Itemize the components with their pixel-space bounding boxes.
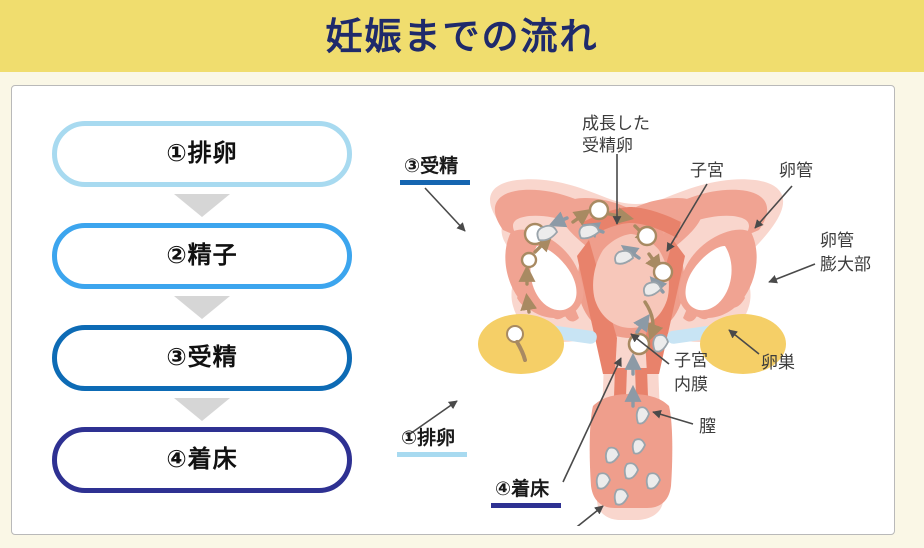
arrow-down-icon xyxy=(174,398,230,421)
flow-arrow-3 xyxy=(52,391,352,427)
anno-ovulation-label: ①排卵 xyxy=(401,426,455,449)
vagina-shape xyxy=(590,394,673,508)
label-grown-fertilized-egg-line1: 成長した xyxy=(582,114,650,133)
label-vagina-text: 膣 xyxy=(699,417,716,436)
flow-step-list: ①排卵 ②精子 ③受精 ④着床 xyxy=(52,121,352,493)
label-vagina: 膣 xyxy=(699,417,716,436)
implanted-embryo xyxy=(629,334,649,354)
arrow-down-icon xyxy=(174,296,230,319)
anno-ovulation: ①排卵 xyxy=(397,426,467,457)
label-endometrium: 子宮 内膜 xyxy=(674,351,708,394)
label-ovary-text: 卵巣 xyxy=(761,353,795,372)
flow-step-3-label: ③受精 xyxy=(166,346,237,370)
flow-step-4-label: ④着床 xyxy=(166,448,237,472)
label-uterus-text: 子宮 xyxy=(690,161,724,180)
label-grown-fertilized-egg-line2: 受精卵 xyxy=(582,136,633,155)
label-ovary: 卵巣 xyxy=(761,353,795,372)
title-banner: 妊娠までの流れ xyxy=(0,0,924,72)
anno-implantation-underline xyxy=(491,503,561,508)
flow-arrow-2 xyxy=(52,289,352,325)
anatomy-diagram: ③受精 ①排卵 ④着床 ②精子 成長した 受精卵 子宮 xyxy=(377,106,882,526)
anno-fertilization-label: ③受精 xyxy=(404,154,458,177)
label-fallopian-tube-text: 卵管 xyxy=(779,161,813,180)
leader-ampulla xyxy=(769,264,815,282)
anno-ovulation-underline xyxy=(397,452,467,457)
label-endometrium-line2: 内膜 xyxy=(674,375,708,394)
leader-sperm xyxy=(553,506,603,526)
flow-step-2-label: ②精子 xyxy=(166,244,237,268)
label-ampulla-line2: 膨大部 xyxy=(820,255,871,274)
flow-step-2-sperm[interactable]: ②精子 xyxy=(52,223,352,289)
anno-fertilization: ③受精 xyxy=(400,154,470,185)
label-uterus: 子宮 xyxy=(690,161,724,180)
label-ampulla: 卵管 膨大部 xyxy=(820,231,871,274)
flow-step-4-implantation[interactable]: ④着床 xyxy=(52,427,352,493)
anno-fertilization-underline xyxy=(400,180,470,185)
label-ampulla-line1: 卵管 xyxy=(820,231,854,250)
anno-implantation: ④着床 xyxy=(491,477,561,508)
ovary-left xyxy=(478,314,564,374)
flow-step-1-ovulation[interactable]: ①排卵 xyxy=(52,121,352,187)
label-fallopian-tube: 卵管 xyxy=(779,161,813,180)
label-grown-fertilized-egg: 成長した 受精卵 xyxy=(582,114,650,155)
content-card: ①排卵 ②精子 ③受精 ④着床 xyxy=(11,85,895,535)
page-title: 妊娠までの流れ xyxy=(326,18,599,55)
flow-step-1-label: ①排卵 xyxy=(166,142,237,166)
flow-step-3-fertilization[interactable]: ③受精 xyxy=(52,325,352,391)
anno-implantation-label: ④着床 xyxy=(495,477,550,500)
arrow-down-icon xyxy=(174,194,230,217)
label-endometrium-line1: 子宮 xyxy=(674,351,708,370)
flow-arrow-1 xyxy=(52,187,352,223)
leader-fertilization xyxy=(425,188,465,231)
